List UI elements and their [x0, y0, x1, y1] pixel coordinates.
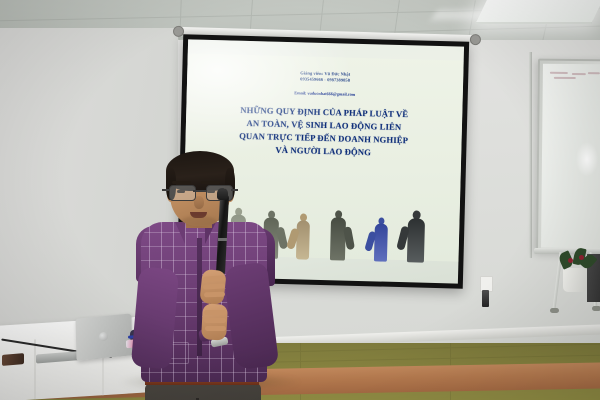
- whiteboard-surface[interactable]: [541, 64, 600, 249]
- presenter-chin-shadow: [181, 216, 217, 227]
- silhouette-figure: [370, 217, 391, 262]
- slide-lecturer-line: Giảng viên: Vũ Đức Nhật 0935459666 - 098…: [300, 70, 350, 84]
- glasses-temple-left: [162, 189, 169, 191]
- glasses-temple-right: [231, 189, 238, 191]
- slide-email: Email: vuducnhat666@gmail.com: [294, 90, 355, 97]
- whiteboard-glare: [576, 142, 598, 176]
- whiteboard-markings: [548, 72, 595, 81]
- presenter-nose: [194, 196, 204, 209]
- glasses-bridge: [193, 190, 206, 192]
- silhouette-figure: [403, 210, 428, 263]
- slide-phone-numbers: 0935459666 - 0987389858: [300, 77, 350, 85]
- plant-pot: [563, 268, 587, 292]
- microphone-head: [217, 188, 228, 200]
- wall-device: [482, 290, 489, 307]
- finger: [204, 292, 225, 298]
- presenter-brow-right: [201, 181, 220, 184]
- plant-flower: [579, 255, 584, 260]
- presenter-trousers: [145, 383, 261, 400]
- silhouette-figure: [326, 210, 349, 261]
- silhouette-figure: [293, 213, 314, 260]
- whiteboard: [536, 59, 600, 254]
- microphone-band: [218, 238, 227, 241]
- whiteboard-caster-right: [592, 306, 600, 311]
- presenter-brow-left: [172, 181, 191, 184]
- seminar-room-photo: Giảng viên: Vũ Đức Nhật 0935459666 - 098…: [0, 0, 600, 400]
- laptop-logo-icon: [99, 332, 108, 342]
- presenter: [139, 152, 271, 400]
- table-object: [2, 353, 24, 366]
- laptop[interactable]: [75, 313, 132, 360]
- whiteboard-caster-left: [550, 308, 559, 313]
- ceiling-light-panel: [475, 0, 600, 24]
- shirt-collar-left: [175, 222, 185, 244]
- glasses-lens-left: [169, 185, 196, 201]
- plant-flower: [568, 258, 573, 263]
- whiteboard-stand-pole: [529, 52, 532, 258]
